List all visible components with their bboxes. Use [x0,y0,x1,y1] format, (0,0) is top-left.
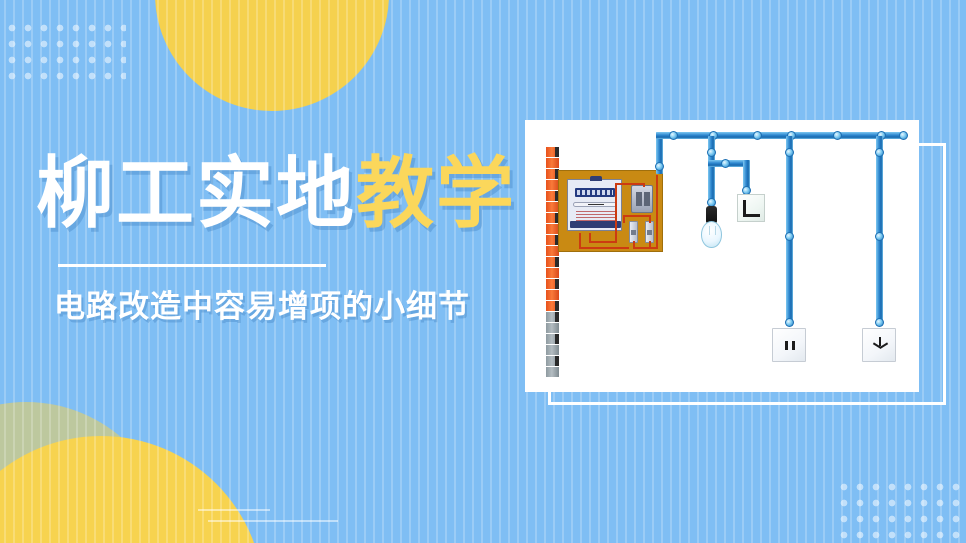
brick [546,158,559,169]
title-block: 柳工实地教学 [36,155,516,233]
brick [546,290,559,301]
meter-label-text [576,211,616,221]
fuse-left [629,221,638,243]
internal-wire [656,175,658,249]
internal-wire [615,183,617,241]
brick [546,301,559,312]
internal-wire [615,183,645,185]
meter-terminal-cap [590,176,602,181]
brick [546,345,559,356]
diagram-caption: 家装电路明管布线示意图 [525,120,526,121]
outlet-two-pin [772,328,806,362]
brick [546,334,559,345]
page-title-white-part: 柳工实地 [36,149,356,239]
internal-wire [633,247,657,249]
fuse-right [645,221,654,243]
page-title: 柳工实地教学 [36,155,516,233]
conduit-joint [785,318,794,327]
energy-meter [567,179,622,231]
wall-switch [737,194,765,222]
photo-panel: 家装电路明管布线示意图 [525,120,919,392]
meter-dial [573,202,617,207]
light-bulb [701,221,722,248]
title-divider [58,264,326,267]
brick [546,268,559,279]
conduit-joint [875,232,884,241]
switch-rocker-icon [743,200,760,217]
dot-grid-bottom-right [834,477,960,543]
brick [546,257,559,268]
conduit-outlet1-drop [786,136,793,326]
brick [546,367,559,378]
page-subtitle: 电路改造中容易增项的小细节 [54,281,470,326]
thin-accent-line-2 [208,520,338,522]
brick [546,312,559,323]
conduit-main-horizontal [656,132,906,139]
brick [546,323,559,334]
dot-grid-top-left [2,18,126,84]
wiring-diagram: 家装电路明管布线示意图 [525,120,919,392]
internal-wire [649,215,651,223]
circuit-breaker [631,185,653,213]
thin-accent-line-1 [198,509,270,511]
distribution-board [558,170,663,252]
meter-digit-window [575,188,615,197]
conduit-outlet2-drop [876,136,883,326]
brick [546,147,559,158]
poster-root: 柳工实地教学 电路改造中容易增项的小细节 [0,0,966,543]
conduit-joint [875,148,884,157]
conduit-joint [753,131,762,140]
page-title-yellow-part: 教学 [356,149,516,239]
internal-wire [643,183,645,187]
conduit-joint [707,148,716,157]
conduit-joint [785,232,794,241]
conduit-joint [785,148,794,157]
conduit-joint [669,131,678,140]
conduit-joint [875,318,884,327]
internal-wire [579,247,629,249]
conduit-joint [655,162,664,171]
socket-pin-icon [785,341,788,350]
meter-terminal-block [570,221,621,228]
brick [546,279,559,290]
socket-pin-icon [792,341,795,350]
conduit-joint [833,131,842,140]
internal-wire [589,241,617,243]
conduit-joint [721,159,730,168]
socket-pin-icon [879,337,881,346]
brick [546,356,559,367]
outlet-three-pin [862,328,896,362]
internal-wire [623,215,651,217]
conduit-lamp-drop [708,136,715,202]
conduit-joint [899,131,908,140]
